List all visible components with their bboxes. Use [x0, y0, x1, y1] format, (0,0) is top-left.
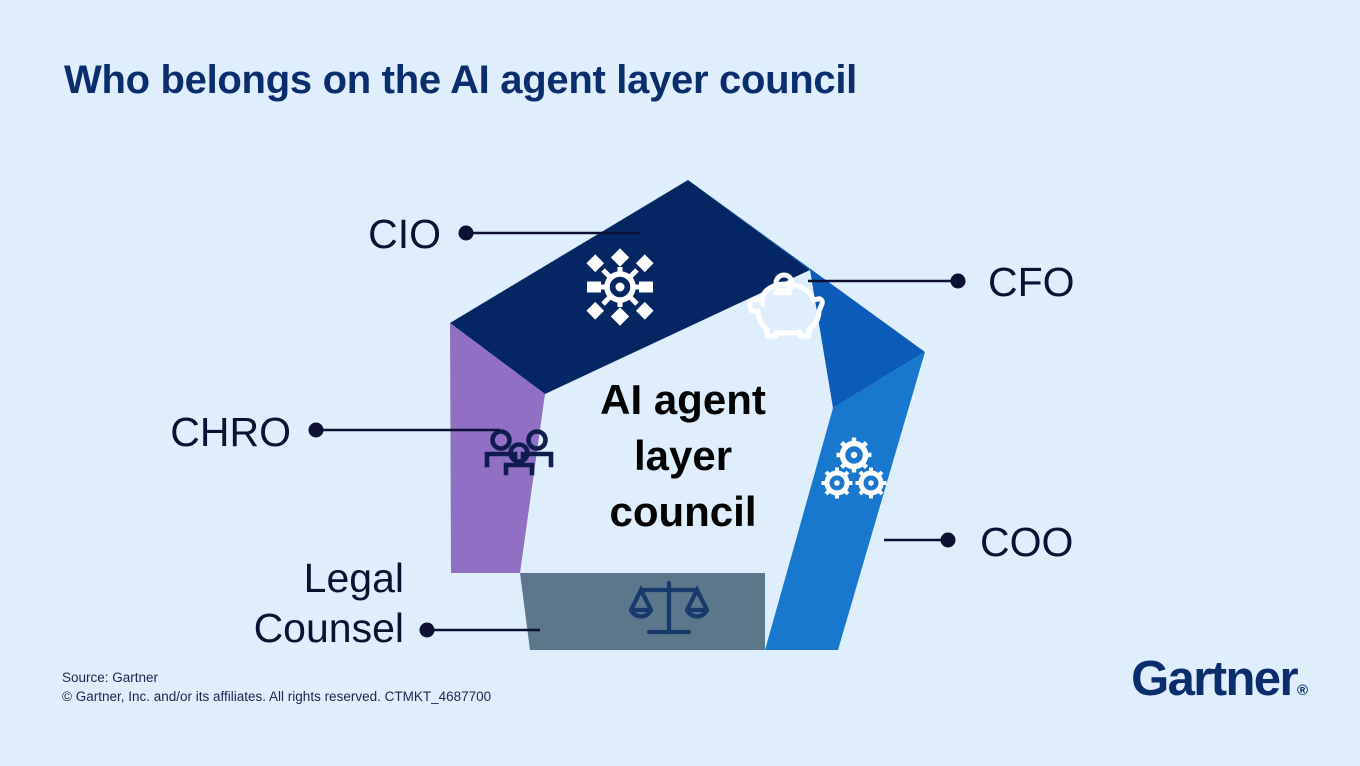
- label-legal-counsel-line2: Counsel: [254, 605, 404, 651]
- label-chro: CHRO: [170, 409, 291, 455]
- label-legal-counsel-line1: Legal: [304, 555, 404, 601]
- connector-dot-legal-counsel: [420, 623, 435, 638]
- network-hub-icon: [586, 248, 653, 325]
- label-cio: CIO: [368, 211, 441, 257]
- footer-copyright: © Gartner, Inc. and/or its affiliates. A…: [62, 687, 491, 706]
- connector-coo: COO: [884, 519, 1073, 565]
- center-label-line1: AI agent: [600, 376, 766, 423]
- connector-dot-cfo: [951, 274, 966, 289]
- connector-dot-coo: [941, 533, 956, 548]
- center-label: AI agent layer council: [600, 376, 766, 535]
- label-coo: COO: [980, 519, 1073, 565]
- connector-dot-chro: [309, 423, 324, 438]
- center-label-line2: layer: [634, 432, 732, 479]
- footer: Source: Gartner © Gartner, Inc. and/or i…: [62, 668, 491, 706]
- center-label-line3: council: [609, 488, 756, 535]
- label-cfo: CFO: [988, 259, 1075, 305]
- segment-cio-shape: [450, 180, 810, 394]
- footer-source: Source: Gartner: [62, 668, 491, 687]
- gartner-logo: Gartner®: [1131, 655, 1308, 704]
- connector-dot-cio: [459, 226, 474, 241]
- registered-trademark-icon: ®: [1297, 682, 1308, 699]
- gartner-logo-text: Gartner: [1131, 652, 1297, 706]
- segment-cio[interactable]: [450, 180, 810, 394]
